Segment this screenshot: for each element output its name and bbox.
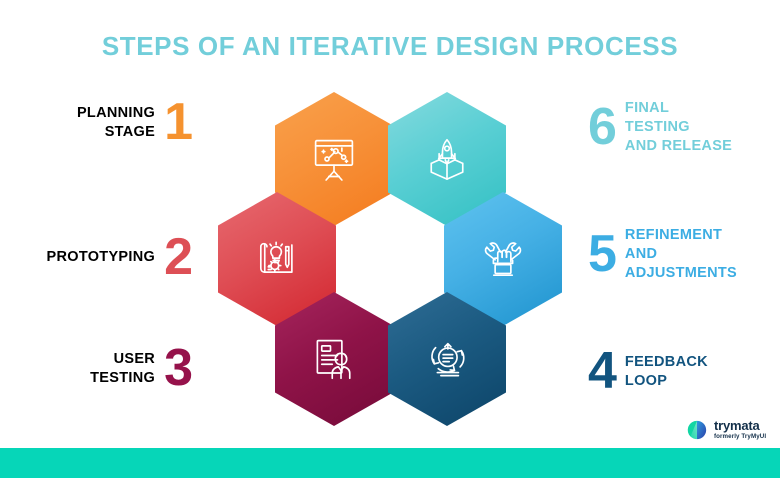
step-2-text: PROTOTYPING xyxy=(47,248,156,267)
bottom-accent-bar xyxy=(0,448,780,478)
infographic-canvas: STEPS OF AN ITERATIVE DESIGN PROCESS PLA… xyxy=(0,0,780,478)
step-6-text: FINAL TESTING AND RELEASE xyxy=(625,99,732,156)
step-5-text: REFINEMENT AND ADJUSTMENTS xyxy=(625,226,737,283)
step-5-number: 5 xyxy=(588,231,616,279)
step-4-text: FEEDBACK LOOP xyxy=(625,353,708,391)
step-6-line1: FINAL xyxy=(625,99,732,118)
step-label-feedback-loop: 4 FEEDBACK LOOP xyxy=(588,348,780,396)
trymata-logo[interactable]: trymata formerly TryMyUI xyxy=(686,419,766,441)
step-5-line1: REFINEMENT xyxy=(625,226,737,245)
user-survey-icon xyxy=(306,331,362,387)
step-2-number: 2 xyxy=(164,234,192,282)
step-1-number: 1 xyxy=(164,99,192,147)
step-1-line2: STAGE xyxy=(77,123,155,142)
step-3-line1: USER xyxy=(90,350,155,369)
blueprint-lightbulb-icon xyxy=(249,231,305,287)
step-label-final-testing-and-release: 6 FINAL TESTING AND RELEASE xyxy=(588,99,780,156)
step-3-text: USER TESTING xyxy=(90,350,155,388)
logo-tagline: formerly TryMyUI xyxy=(714,434,766,440)
step-5-line2: AND xyxy=(625,245,737,264)
rocket-box-icon xyxy=(419,131,475,187)
step-6-line2: TESTING xyxy=(625,118,732,137)
step-1-line1: PLANNING xyxy=(77,104,155,123)
step-1-text: PLANNING STAGE xyxy=(77,104,155,142)
trymata-logo-icon xyxy=(686,419,708,441)
hexagon-ring xyxy=(212,92,568,420)
step-3-number: 3 xyxy=(164,345,192,393)
logo-wordmark: trymata xyxy=(714,419,766,432)
step-4-line1: FEEDBACK xyxy=(625,353,708,372)
step-3-line2: TESTING xyxy=(90,369,155,388)
step-label-refinement-and-adjustments: 5 REFINEMENT AND ADJUSTMENTS xyxy=(588,226,780,283)
step-label-user-testing: USER TESTING 3 xyxy=(0,345,192,393)
presentation-board-icon xyxy=(306,131,362,187)
step-5-line3: ADJUSTMENTS xyxy=(625,264,737,283)
step-4-number: 4 xyxy=(588,348,616,396)
feedback-loop-icon xyxy=(419,331,475,387)
step-label-prototyping: PROTOTYPING 2 xyxy=(0,234,192,282)
page-title: STEPS OF AN ITERATIVE DESIGN PROCESS xyxy=(0,31,780,62)
step-label-planning-stage: PLANNING STAGE 1 xyxy=(0,99,192,147)
hand-wrench-icon xyxy=(475,231,531,287)
step-6-number: 6 xyxy=(588,104,616,152)
logo-text: trymata formerly TryMyUI xyxy=(714,419,766,440)
step-6-line3: AND RELEASE xyxy=(625,137,732,156)
step-2-line1: PROTOTYPING xyxy=(47,248,156,267)
step-4-line2: LOOP xyxy=(625,372,708,391)
